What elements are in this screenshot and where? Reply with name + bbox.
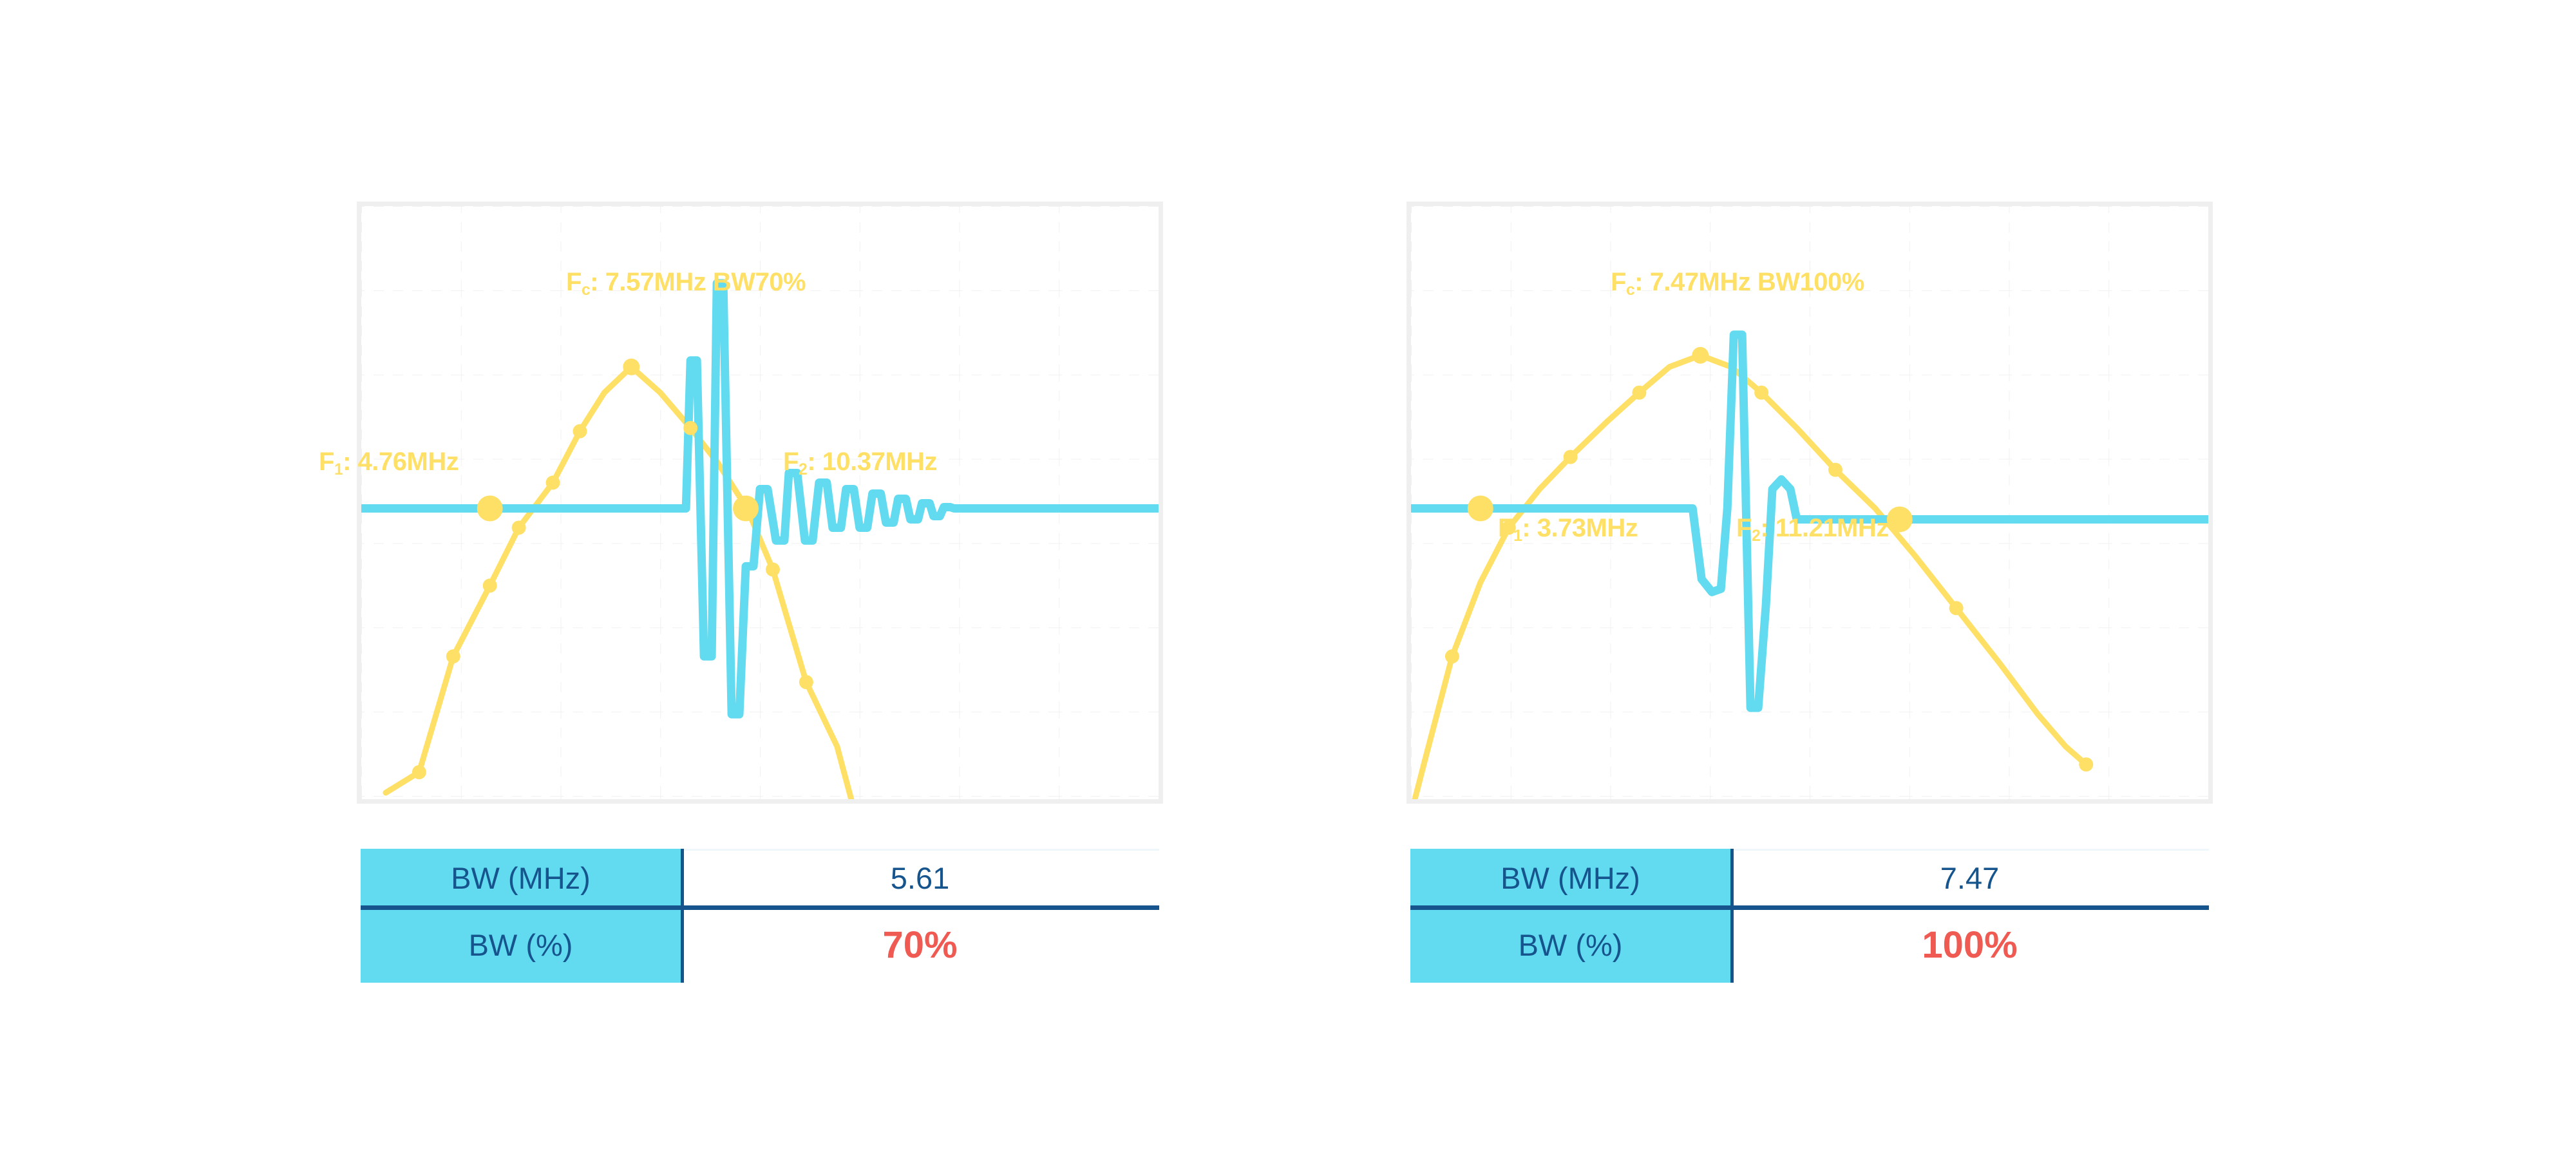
panel-bw100: Fc: 7.47MHz BW100% F1: 3.73MHz F2: 11.21… [1359,0,2273,1154]
marker-f1 [1468,496,1493,522]
marker-f2 [1887,506,1913,532]
label-f2-prefix: F [1736,514,1752,542]
table-column-divider [681,849,684,983]
table-header-bw-mhz: BW (MHz) [361,849,681,907]
marker-f2 [733,496,759,522]
label-fc-prefix: F [1611,268,1626,296]
table-header-bw-pct: BW (%) [1410,907,1730,983]
label-f1-bw70: F1: 4.76MHz [319,448,459,477]
table-top-rule [1730,849,2209,851]
label-f2-text: : 10.37MHz [807,448,937,476]
table-middle-rule [361,905,1159,910]
label-f2-sub: 2 [1752,527,1760,545]
table-top-rule [681,849,1159,851]
label-f1-prefix: F [319,448,334,476]
bw-table-100: BW (MHz) 7.47 BW (%) 100% [1410,849,2209,983]
figure-root: Fc: 7.57MHz BW70% F1: 4.76MHz F2: 10.37M… [0,0,2576,1154]
table-row: BW (%) 100% [1410,907,2209,983]
chart-box-bw100: Fc: 7.47MHz BW100% F1: 3.73MHz F2: 11.21… [1406,202,2213,804]
label-f1-sub: 1 [334,461,343,478]
table-row: BW (MHz) 5.61 [361,849,1159,907]
label-fc-text: : 7.47MHz BW100% [1634,268,1864,296]
label-f2-text: : 11.21MHz [1760,514,1889,542]
table-row: BW (MHz) 7.47 [1410,849,2209,907]
label-f2-bw100: F2: 11.21MHz [1736,514,1889,543]
label-f1-bw100: F1: 3.73MHz [1498,514,1638,543]
label-f1-sub: 1 [1513,527,1522,545]
label-f1-text: : 3.73MHz [1522,514,1638,542]
label-f1-text: : 4.76MHz [343,448,459,476]
table-value-bw-mhz: 7.47 [1730,849,2209,907]
chart-box-bw70: Fc: 7.57MHz BW70% F1: 4.76MHz F2: 10.37M… [357,202,1163,804]
label-f1-prefix: F [1498,514,1513,542]
label-fc-sub: c [1626,281,1634,299]
label-f2-bw70: F2: 10.37MHz [783,448,937,477]
label-fc-prefix: F [566,268,582,296]
label-fc-text: : 7.57MHz BW70% [590,268,806,296]
marker-f1 [477,496,503,522]
label-fc-bw70: Fc: 7.57MHz BW70% [566,268,806,297]
table-column-divider [1730,849,1734,983]
table-header-bw-mhz: BW (MHz) [1410,849,1730,907]
table-header-bw-pct: BW (%) [361,907,681,983]
label-fc-bw100: Fc: 7.47MHz BW100% [1611,268,1864,297]
label-f2-prefix: F [783,448,799,476]
label-fc-sub: c [582,281,590,299]
table-value-bw-pct: 100% [1730,907,2209,983]
bw-table-70: BW (MHz) 5.61 BW (%) 70% [361,849,1159,983]
table-middle-rule [1410,905,2209,910]
panel-bw70: Fc: 7.57MHz BW70% F1: 4.76MHz F2: 10.37M… [309,0,1224,1154]
table-row: BW (%) 70% [361,907,1159,983]
table-value-bw-mhz: 5.61 [681,849,1159,907]
table-value-bw-pct: 70% [681,907,1159,983]
label-f2-sub: 2 [799,461,807,478]
